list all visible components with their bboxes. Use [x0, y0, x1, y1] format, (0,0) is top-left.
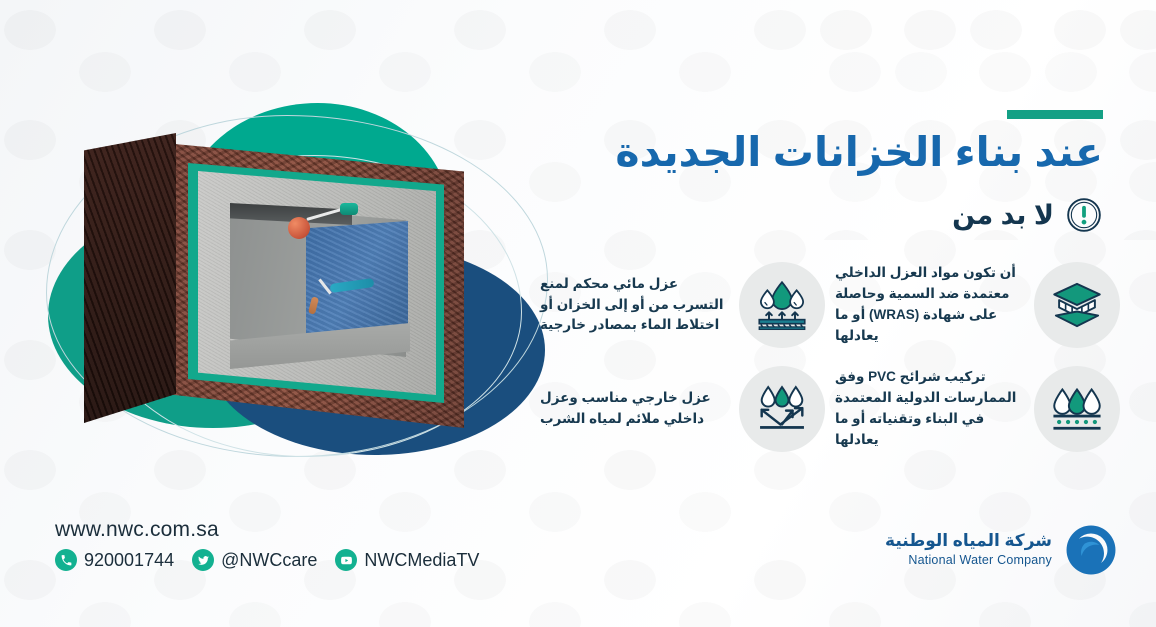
feature-text: أن تكون مواد العزل الداخلي معتمدة ضد الس… [835, 263, 1023, 347]
youtube-icon [335, 549, 357, 571]
soil-layer-side [84, 133, 176, 423]
feature-item: عزل مائي محكم لمنع التسرب من أو إلى الخز… [540, 262, 825, 348]
social-row: 920001744 @NWCcare NWCMediaTV [55, 549, 479, 571]
inlet-valve [340, 203, 358, 215]
twitter-handle: @NWCcare [221, 550, 317, 571]
contact-twitter[interactable]: @NWCcare [192, 549, 317, 571]
layers-stack-icon [1034, 262, 1120, 348]
float-ball [288, 217, 310, 239]
infographic-poster: عند بناء الخزانات الجديدة لا بد من [0, 0, 1156, 627]
feature-item: عزل خارجي مناسب وعزل داخلي ملائم لمياه ا… [540, 366, 825, 452]
feature-item: أن تكون مواد العزل الداخلي معتمدة ضد الس… [835, 262, 1120, 348]
feature-text: تركيب شرائح PVC وفق الممارسات الدولية ال… [835, 367, 1023, 451]
twitter-icon [192, 549, 214, 571]
tank-cross-section [78, 125, 498, 455]
brand-name-ar: شركة المياه الوطنية [885, 531, 1052, 550]
feature-text: عزل مائي محكم لمنع التسرب من أو إلى الخز… [540, 274, 728, 337]
phone-number: 920001744 [84, 550, 174, 571]
features-grid: أن تكون مواد العزل الداخلي معتمدة ضد الس… [540, 262, 1120, 452]
water-repellent-arrows-icon [739, 366, 825, 452]
feature-item: تركيب شرائح PVC وفق الممارسات الدولية ال… [835, 366, 1120, 452]
exclamation-circle-icon [1065, 196, 1103, 234]
nwc-droplet-logo-icon [1064, 523, 1118, 577]
brand-name-en: National Water Company [908, 553, 1052, 567]
page-title: عند بناء الخزانات الجديدة [543, 128, 1103, 176]
pvc-sheet-droplets-icon [1034, 366, 1120, 452]
subtitle-row: لا بد من [952, 196, 1103, 234]
brand-text: شركة المياه الوطنية National Water Compa… [885, 531, 1052, 569]
subtitle-text: لا بد من [952, 200, 1054, 231]
feature-text: عزل خارجي مناسب وعزل داخلي ملائم لمياه ا… [540, 388, 728, 430]
title-accent-bar [1007, 110, 1103, 119]
footer-contact: www.nwc.com.sa 920001744 @NWCcare [55, 518, 479, 571]
youtube-channel: NWCMediaTV [364, 550, 479, 571]
website-link[interactable]: www.nwc.com.sa [55, 518, 479, 542]
contact-phone[interactable]: 920001744 [55, 549, 174, 571]
contact-youtube[interactable]: NWCMediaTV [335, 549, 479, 571]
brand-logo: شركة المياه الوطنية National Water Compa… [885, 523, 1118, 577]
phone-icon [55, 549, 77, 571]
droplets-membrane-icon [739, 262, 825, 348]
tank-illustration [30, 95, 550, 495]
